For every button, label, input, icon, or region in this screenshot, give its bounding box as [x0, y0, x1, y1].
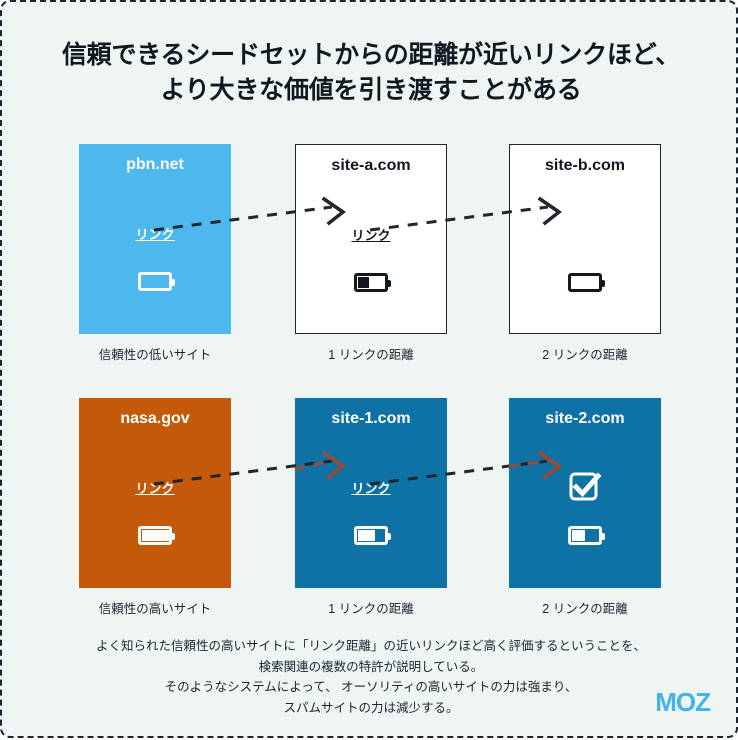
- battery-fill: [358, 530, 375, 541]
- battery-icon: [568, 526, 602, 545]
- card-cell-pbn-net: pbn.net リンク 信頼性の低いサイト: [79, 144, 231, 334]
- site-card-link[interactable]: リンク: [79, 478, 231, 497]
- site-card-title: site-1.com: [295, 410, 447, 428]
- site-card-site-2-com[interactable]: site-2.com: [509, 398, 661, 588]
- battery-icon: [138, 526, 172, 545]
- battery-nub: [387, 280, 391, 287]
- card-cell-site-b-com: site-b.com 2 リンクの距離: [509, 144, 661, 334]
- site-card-title: site-2.com: [509, 410, 661, 428]
- site-card-link[interactable]: リンク: [79, 224, 231, 243]
- footer-line-2: 検索関連の複数の特許が説明している。: [62, 657, 680, 678]
- battery-fill: [142, 530, 170, 541]
- battery-wrap: [510, 273, 660, 292]
- battery-icon: [354, 526, 388, 545]
- card-caption: 1 リンクの距離: [281, 344, 461, 363]
- card-cell-site-a-com: site-a.com リンク 1 リンクの距離: [295, 144, 447, 334]
- battery-icon: [354, 273, 388, 292]
- site-card-site-a-com[interactable]: site-a.com リンク: [295, 144, 447, 334]
- battery-icon: [568, 273, 602, 292]
- battery-wrap: [79, 272, 231, 291]
- card-caption: 信頼性の高いサイト: [65, 598, 245, 617]
- site-card-title: nasa.gov: [79, 410, 231, 428]
- battery-wrap: [79, 526, 231, 545]
- site-card-site-b-com[interactable]: site-b.com: [509, 144, 661, 334]
- footer-line-4: スパムサイトの力は減少する。: [62, 698, 680, 719]
- battery-icon: [138, 272, 172, 291]
- battery-nub: [601, 533, 605, 540]
- battery-nub: [171, 533, 175, 540]
- footer-description: よく知られた信頼性の高いサイトに「リンク距離」の近いリンクほど高く評価するという…: [62, 636, 680, 719]
- card-cell-site-2-com: site-2.com 2 リンクの距離: [509, 398, 661, 588]
- battery-nub: [171, 279, 175, 286]
- card-caption: 信頼性の低いサイト: [65, 344, 245, 363]
- site-card-title: site-b.com: [510, 157, 660, 175]
- checkbox-wrap: [509, 470, 661, 504]
- card-caption: 2 リンクの距離: [495, 598, 675, 617]
- site-card-site-1-com[interactable]: site-1.com リンク: [295, 398, 447, 588]
- infographic-canvas: 信頼できるシードセットからの距離が近いリンクほど、 より大きな価値を引き渡すこと…: [0, 0, 738, 738]
- footer-line-3: そのようなシステムによって、 オーソリティの高いサイトの力は強まり、: [62, 677, 680, 698]
- link-flow-arrows: [2, 2, 738, 740]
- card-cell-site-1-com: site-1.com リンク 1 リンクの距離: [295, 398, 447, 588]
- card-caption: 2 リンクの距離: [495, 344, 675, 363]
- site-card-title: site-a.com: [296, 157, 446, 175]
- title-line-2: より大きな価値を引き渡すことがある: [42, 73, 700, 108]
- battery-fill: [358, 277, 369, 288]
- site-card-title: pbn.net: [79, 156, 231, 174]
- card-caption: 1 リンクの距離: [281, 598, 461, 617]
- battery-fill: [572, 530, 585, 541]
- site-card-link[interactable]: リンク: [295, 478, 447, 497]
- battery-wrap: [296, 273, 446, 292]
- battery-wrap: [295, 526, 447, 545]
- footer-line-1: よく知られた信頼性の高いサイトに「リンク距離」の近いリンクほど高く評価するという…: [62, 636, 680, 657]
- page-title: 信頼できるシードセットからの距離が近いリンクほど、 より大きな価値を引き渡すこと…: [42, 38, 700, 107]
- site-card-pbn-net[interactable]: pbn.net リンク: [79, 144, 231, 334]
- title-line-1: 信頼できるシードセットからの距離が近いリンクほど、: [42, 38, 700, 73]
- battery-wrap: [509, 526, 661, 545]
- checkbox-checked-icon: [568, 470, 602, 504]
- moz-logo: MOZ: [655, 687, 710, 718]
- battery-nub: [387, 533, 391, 540]
- card-cell-nasa-gov: nasa.gov リンク 信頼性の高いサイト: [79, 398, 231, 588]
- battery-nub: [601, 280, 605, 287]
- site-card-nasa-gov[interactable]: nasa.gov リンク: [79, 398, 231, 588]
- site-card-link[interactable]: リンク: [296, 225, 446, 244]
